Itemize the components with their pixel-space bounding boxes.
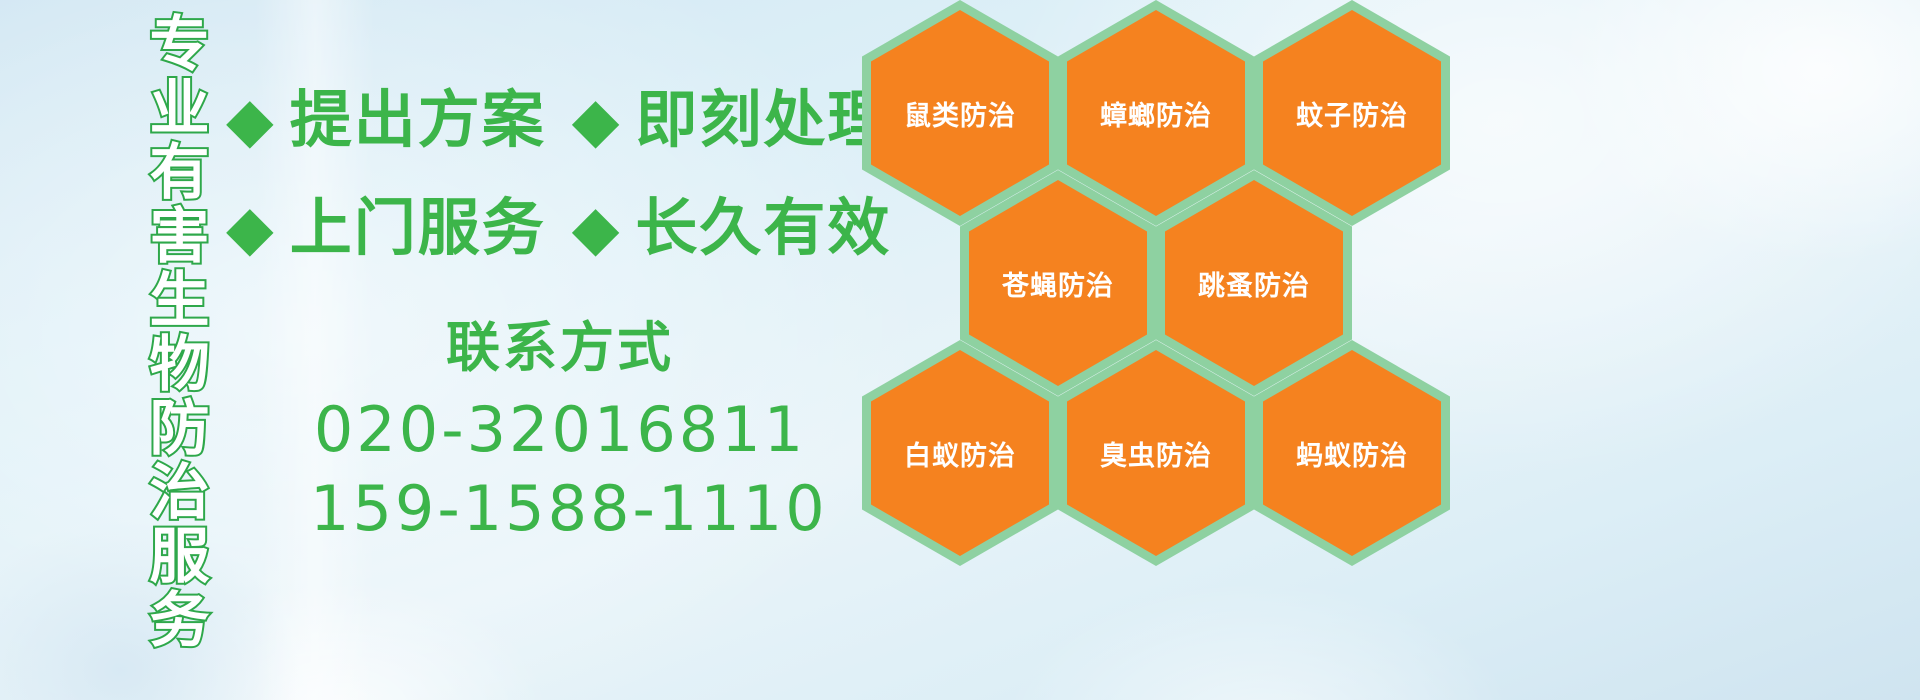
hex-inner-fill: 跳蚤防治	[1165, 180, 1343, 386]
hex-inner-fill: 蚂蚁防治	[1263, 350, 1441, 556]
hex-inner-fill: 苍蝇防治	[969, 180, 1147, 386]
contact-block: 联系方式 020-32016811 159-1588-1110	[310, 318, 810, 548]
hex-inner-fill: 鼠类防治	[871, 10, 1049, 216]
slogan-text: 上门服务	[290, 197, 546, 259]
slogan-text: 提出方案	[290, 89, 546, 151]
service-label: 苍蝇防治	[1002, 264, 1114, 303]
service-label: 蟑螂防治	[1100, 94, 1212, 133]
phone-mobile[interactable]: 159-1588-1110	[310, 470, 810, 548]
hex-inner-fill: 臭虫防治	[1067, 350, 1245, 556]
slogan-row: ◆ 提出方案 ◆ 即刻处理	[226, 78, 866, 162]
service-label: 臭虫防治	[1100, 434, 1212, 473]
service-label: 蚂蚁防治	[1296, 434, 1408, 473]
service-label: 鼠类防治	[904, 94, 1016, 133]
diamond-bullet-icon: ◆	[226, 197, 274, 259]
slogan-row: ◆ 上门服务 ◆ 长久有效	[226, 186, 866, 270]
hex-inner-fill: 蟑螂防治	[1067, 10, 1245, 216]
service-label: 蚊子防治	[1296, 94, 1408, 133]
service-label: 白蚁防治	[904, 434, 1016, 473]
promo-banner: 专业有害生物防治服务 ◆ 提出方案 ◆ 即刻处理 ◆ 上门服务 ◆ 长久有效 联…	[0, 0, 1920, 700]
service-label: 跳蚤防治	[1198, 264, 1310, 303]
diamond-bullet-icon: ◆	[226, 89, 274, 151]
diamond-bullet-icon: ◆	[572, 197, 620, 259]
vertical-company-title: 专业有害生物防治服务	[108, 12, 204, 652]
phone-landline[interactable]: 020-32016811	[310, 391, 810, 469]
diamond-bullet-icon: ◆	[572, 89, 620, 151]
slogan-text: 长久有效	[635, 197, 891, 259]
hex-inner-fill: 蚊子防治	[1263, 10, 1441, 216]
slogan-text: 即刻处理	[635, 89, 891, 151]
service-honeycomb: 鼠类防治 蟑螂防治 蚊子防治 苍蝇防治 跳蚤防治 白蚁防治	[856, 0, 1476, 700]
slogan-list: ◆ 提出方案 ◆ 即刻处理 ◆ 上门服务 ◆ 长久有效	[226, 78, 866, 294]
hex-inner-fill: 白蚁防治	[871, 350, 1049, 556]
light-blob-decor	[1560, 0, 1920, 260]
contact-title: 联系方式	[310, 318, 810, 377]
